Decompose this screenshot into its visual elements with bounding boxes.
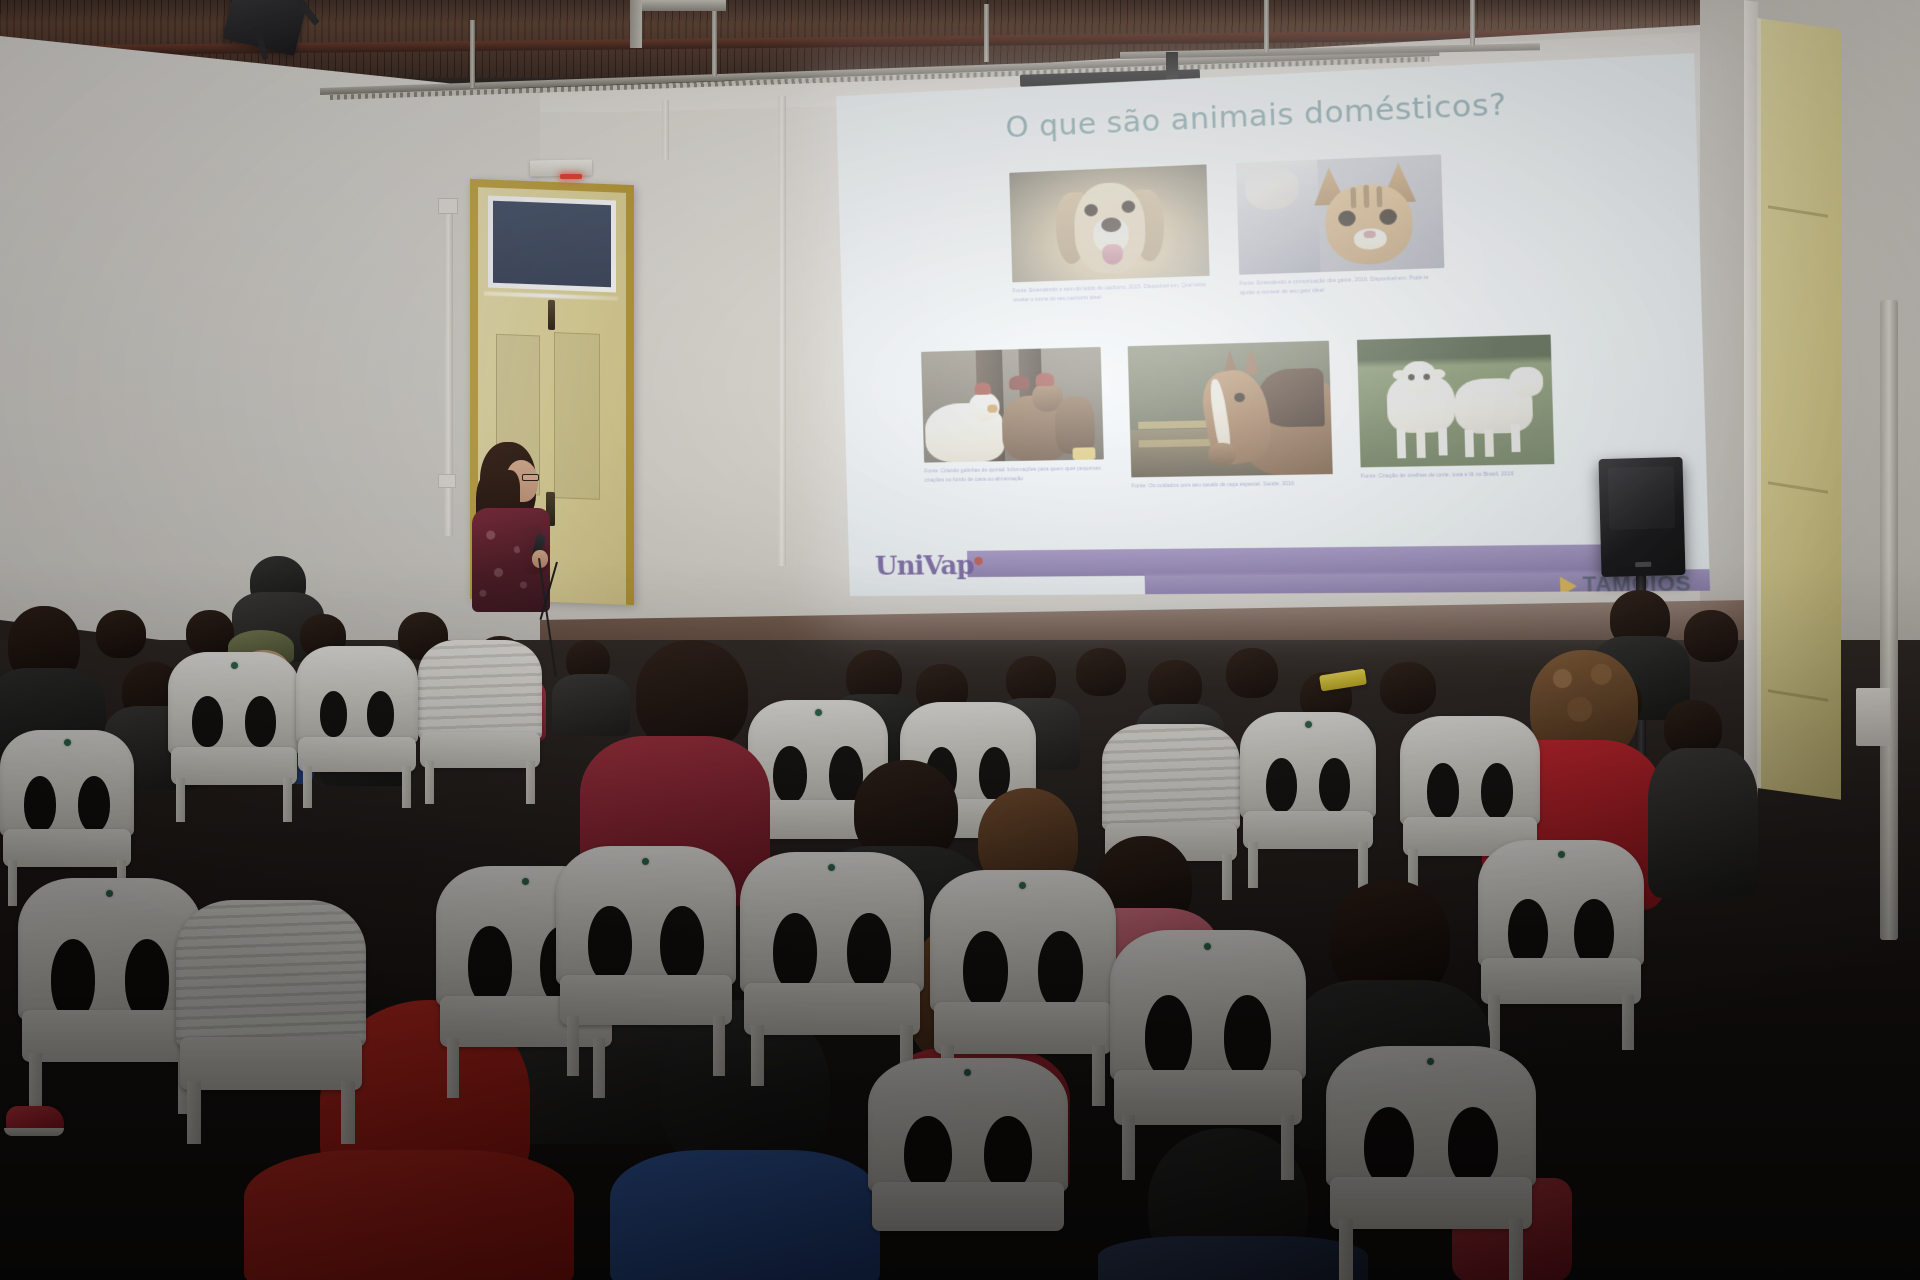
audience-head bbox=[186, 610, 234, 656]
audience-torso-hoodie bbox=[610, 1150, 880, 1280]
emergency-light-led bbox=[560, 174, 582, 179]
chair[interactable] bbox=[556, 846, 736, 1076]
univap-logo-dot: ● bbox=[973, 554, 982, 567]
chair[interactable] bbox=[1240, 712, 1376, 888]
wall-pipe bbox=[1880, 300, 1898, 940]
audience-head bbox=[1006, 656, 1056, 704]
chair[interactable] bbox=[1110, 930, 1306, 1180]
slide-photo-cell-cat: Fonte: Entendendo a comunicação dos gato… bbox=[1236, 154, 1445, 297]
photo-dog bbox=[1009, 164, 1209, 282]
slide-photo-row-2: Fonte: Criando galinhas de quintal. Info… bbox=[921, 335, 1555, 495]
chair[interactable] bbox=[1326, 1046, 1536, 1280]
audience-head bbox=[96, 610, 146, 658]
univap-logo: UniVap● bbox=[875, 551, 983, 582]
presenter-glasses bbox=[522, 474, 539, 481]
transom-glass bbox=[493, 201, 611, 288]
ceiling-hanger-rod bbox=[1264, 0, 1269, 52]
wall-conduit-pipe-vertical bbox=[662, 100, 669, 160]
transom-window bbox=[488, 196, 616, 293]
chair[interactable] bbox=[1478, 840, 1644, 1050]
audience-torso-red-hoodie bbox=[244, 1150, 574, 1280]
photo-caption-cat: Fonte: Entendendo a comunicação dos gato… bbox=[1239, 273, 1445, 297]
audience-head bbox=[1076, 648, 1126, 696]
audience-torso bbox=[1648, 748, 1758, 898]
ceiling-hanger-rod bbox=[984, 4, 989, 62]
shoe-sole bbox=[4, 1128, 64, 1136]
slide-photo-cell-horse: Fonte: Os cuidados com seu cavalo de raç… bbox=[1128, 341, 1333, 492]
photo-chickens bbox=[921, 347, 1104, 463]
chair[interactable] bbox=[176, 900, 366, 1144]
photo-sheep bbox=[1357, 335, 1554, 468]
ceiling-fixture-mount bbox=[1166, 52, 1178, 80]
chair[interactable] bbox=[740, 852, 924, 1086]
chair[interactable] bbox=[18, 878, 202, 1114]
chair[interactable] bbox=[868, 1058, 1068, 1280]
wall-conduit-pipe-vertical bbox=[778, 96, 786, 566]
photo-caption-horse: Fonte: Os cuidados com seu cavalo de raç… bbox=[1132, 479, 1334, 491]
wall-junction-box bbox=[438, 198, 458, 214]
photo-horse bbox=[1128, 341, 1333, 478]
ceiling-hanger-rod bbox=[470, 20, 475, 88]
wall-junction-box bbox=[438, 474, 456, 488]
photo-caption-sheep: Fonte: Criação de ovelhas de corte, tosa… bbox=[1361, 469, 1555, 481]
slide-photo-cell-dog: Fonte: Entendendo o som do latido do cac… bbox=[1009, 164, 1210, 304]
photo-caption-dog: Fonte: Entendendo o som do latido do cac… bbox=[1012, 281, 1210, 305]
chair[interactable] bbox=[418, 640, 542, 804]
pa-speaker bbox=[1598, 457, 1685, 577]
audience-head bbox=[1380, 662, 1436, 714]
ceiling-bracket bbox=[630, 0, 726, 11]
chair[interactable] bbox=[296, 646, 418, 808]
photo-cat bbox=[1236, 154, 1444, 274]
door-latch[interactable] bbox=[548, 300, 555, 330]
classroom-scene: O que são animais domésticos? bbox=[0, 0, 1920, 1280]
audience-head bbox=[1684, 610, 1738, 662]
slide-photo-cell-sheep: Fonte: Criação de ovelhas de corte, tosa… bbox=[1357, 335, 1555, 482]
projection-screen: O que são animais domésticos? bbox=[836, 53, 1710, 596]
univap-logo-text: UniVap bbox=[875, 551, 975, 582]
slide-photo-row-1: Fonte: Entendendo o som do latido do cac… bbox=[1009, 154, 1445, 304]
ceiling-hanger-rod bbox=[1470, 0, 1475, 46]
ceiling-bracket-post bbox=[630, 0, 642, 48]
wall-plate bbox=[1856, 688, 1890, 746]
audience-head bbox=[1226, 648, 1278, 698]
side-door[interactable] bbox=[1757, 18, 1841, 800]
slide-photo-cell-chickens: Fonte: Criando galinhas de quintal. Info… bbox=[921, 347, 1104, 485]
pa-speaker-badge bbox=[1635, 562, 1651, 567]
photo-caption-chickens: Fonte: Criando galinhas de quintal. Info… bbox=[924, 465, 1104, 485]
ceiling-hanger-rod bbox=[712, 10, 717, 76]
chair[interactable] bbox=[168, 652, 300, 822]
side-door-jamb bbox=[1744, 0, 1758, 802]
audience-torso bbox=[552, 674, 630, 736]
